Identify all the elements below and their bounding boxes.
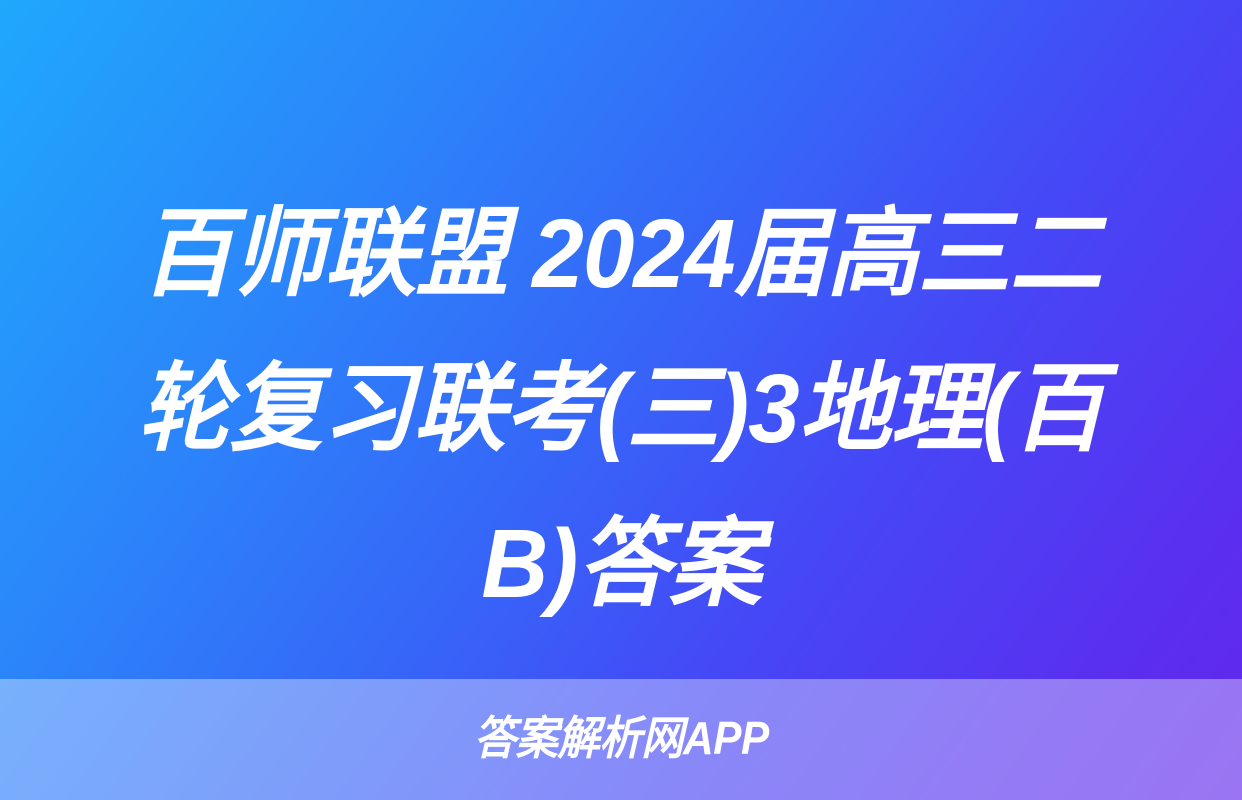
title-line-1: 百师联盟 2024届高三二: [102, 176, 1139, 331]
answer-title-card: 百师联盟 2024届高三二 轮复习联考(三)3地理(百 B)答案 答案解析网AP…: [0, 0, 1242, 800]
app-watermark-label: 答案解析网APP: [474, 715, 769, 761]
title-line-3: B)答案: [102, 486, 1139, 641]
title-line-2: 轮复习联考(三)3地理(百: [102, 331, 1139, 486]
footer-watermark-band: 答案解析网APP: [0, 679, 1242, 800]
page-title: 百师联盟 2024届高三二 轮复习联考(三)3地理(百 B)答案: [0, 176, 1242, 641]
